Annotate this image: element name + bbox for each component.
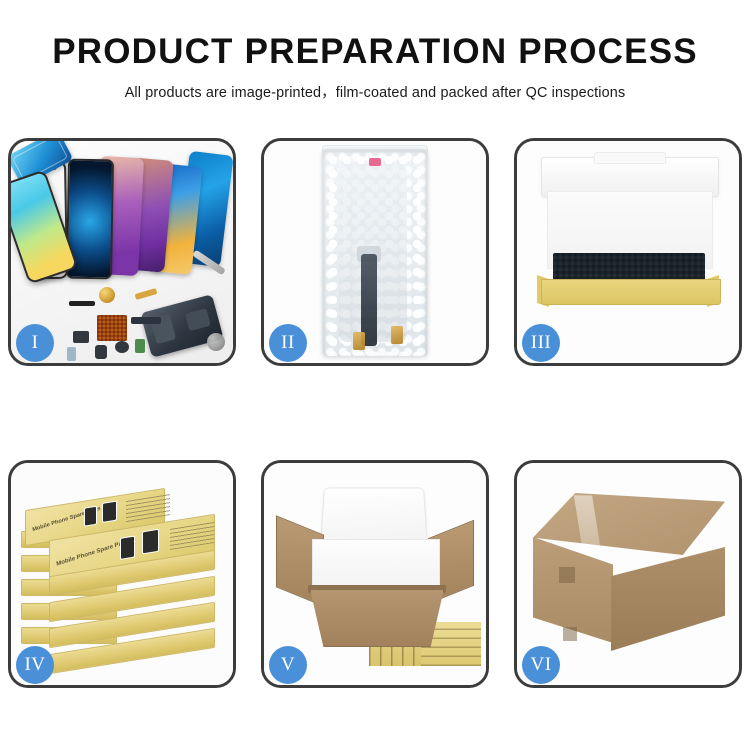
gold-contact-2 (391, 326, 403, 344)
box-lid-spec-lines-1 (126, 493, 170, 522)
process-step-1: I (8, 138, 236, 366)
process-step-6: VI (514, 460, 742, 688)
gold-contact-1 (353, 332, 365, 350)
process-step-5: V (261, 460, 489, 688)
flex-cable-1 (69, 301, 95, 306)
page-subtitle: All products are image-printed，film-coat… (0, 81, 750, 102)
box-lid-spec-lines-2 (170, 521, 214, 550)
process-step-grid: I II (8, 138, 742, 688)
carton-body (310, 589, 444, 647)
gold-component (99, 287, 115, 303)
screws (207, 333, 225, 351)
carton-right-face (611, 547, 725, 651)
carton-top-face (533, 493, 725, 555)
bubble-bag-wrapper (322, 149, 428, 357)
process-step-4: Mobile Phone Spare Parts Mobile Phone Sp… (8, 460, 236, 688)
bubble-wrap-bag (322, 149, 428, 357)
small-part-3 (115, 341, 129, 353)
shipping-carton (533, 493, 725, 651)
flex-cable-2 (135, 288, 158, 300)
box-lid-label-2: Mobile Phone Spare Parts (56, 539, 130, 568)
small-part-4 (135, 339, 145, 353)
step-badge-6: VI (522, 646, 560, 684)
small-part-1 (73, 331, 89, 343)
box-lid-screen-img-3 (120, 536, 135, 560)
carton-handle-hole-2 (563, 627, 577, 641)
header: PRODUCT PREPARATION PROCESS All products… (0, 0, 750, 102)
carton-handle-hole-1 (559, 567, 575, 583)
step-badge-2: II (269, 324, 307, 362)
pink-label-sticker (369, 158, 381, 166)
connector-array-chip (97, 315, 127, 341)
step-badge-4: IV (16, 646, 54, 684)
product-preparation-infographic: PRODUCT PREPARATION PROCESS All products… (0, 0, 750, 750)
step-badge-3: III (522, 324, 560, 362)
box-lid-screen-img-2 (102, 501, 117, 523)
page-title: PRODUCT PREPARATION PROCESS (0, 34, 750, 71)
box-lid-screen-img-1 (84, 506, 97, 527)
small-part-2 (95, 345, 107, 359)
kraft-box-front (541, 279, 721, 305)
flex-cable-3 (131, 317, 161, 324)
step-badge-5: V (269, 646, 307, 684)
small-part-5 (67, 347, 76, 361)
process-step-3: III (514, 138, 742, 366)
box-lid-screen-img-4 (142, 529, 159, 555)
box-stack: Mobile Phone Spare Parts Mobile Phone Sp… (21, 485, 229, 675)
process-step-2: II (261, 138, 489, 366)
step-badge-1: I (16, 324, 54, 362)
